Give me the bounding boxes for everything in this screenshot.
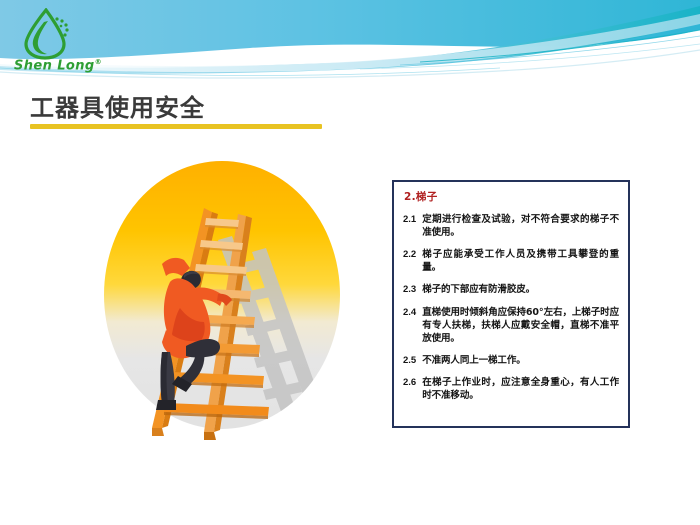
list-item-text: 不准两人同上一梯工作。: [422, 354, 619, 367]
slide: Shen Long® 工器具使用安全: [0, 0, 700, 525]
list-item-text: 梯子应能承受工作人员及携带工具攀登的重量。: [422, 248, 619, 274]
water-droplet-icon: [16, 8, 78, 60]
list-item-text: 在梯子上作业时，应注意全身重心，有人工作时不准移动。: [422, 376, 619, 402]
list-item-number: 2.4: [403, 306, 416, 319]
list-item: 2.1 定期进行检查及试验，对不符合要求的梯子不准使用。: [403, 213, 619, 239]
logo: Shen Long®: [0, 0, 104, 78]
list-item: 2.6 在梯子上作业时，应注意全身重心，有人工作时不准移动。: [403, 376, 619, 402]
logo-wordmark: Shen Long®: [14, 58, 102, 73]
list-item: 2.4 直梯使用时倾斜角应保持60°左右，上梯子时应有专人扶梯，扶梯人应戴安全帽…: [403, 306, 619, 345]
list-item-text: 直梯使用时倾斜角应保持60°左右，上梯子时应有专人扶梯，扶梯人应戴安全帽，直梯不…: [422, 306, 619, 345]
logo-wordmark-text: Shen Long: [14, 58, 95, 73]
title-underline: [30, 124, 322, 129]
list-item: 2.3 梯子的下部应有防滑胶皮。: [403, 283, 619, 296]
wave-banner-decoration: [0, 0, 700, 90]
content-box: 2.梯子 2.1 定期进行检查及试验，对不符合要求的梯子不准使用。 2.2 梯子…: [392, 180, 630, 428]
list-item-text: 梯子的下部应有防滑胶皮。: [422, 283, 619, 296]
list-item-number: 2.2: [403, 248, 416, 261]
list-item-number: 2.6: [403, 376, 416, 389]
content-box-heading: 2.梯子: [404, 189, 619, 204]
list-item-number: 2.5: [403, 354, 416, 367]
list-item-number: 2.1: [403, 213, 416, 226]
registered-mark: ®: [95, 58, 102, 66]
person-climbing-ladder-illustration: [100, 160, 355, 450]
list-item: 2.2 梯子应能承受工作人员及携带工具攀登的重量。: [403, 248, 619, 274]
list-item-number: 2.3: [403, 283, 416, 296]
list-item: 2.5 不准两人同上一梯工作。: [403, 354, 619, 367]
list-item-text: 定期进行检查及试验，对不符合要求的梯子不准使用。: [422, 213, 619, 239]
page-title: 工器具使用安全: [30, 88, 205, 123]
